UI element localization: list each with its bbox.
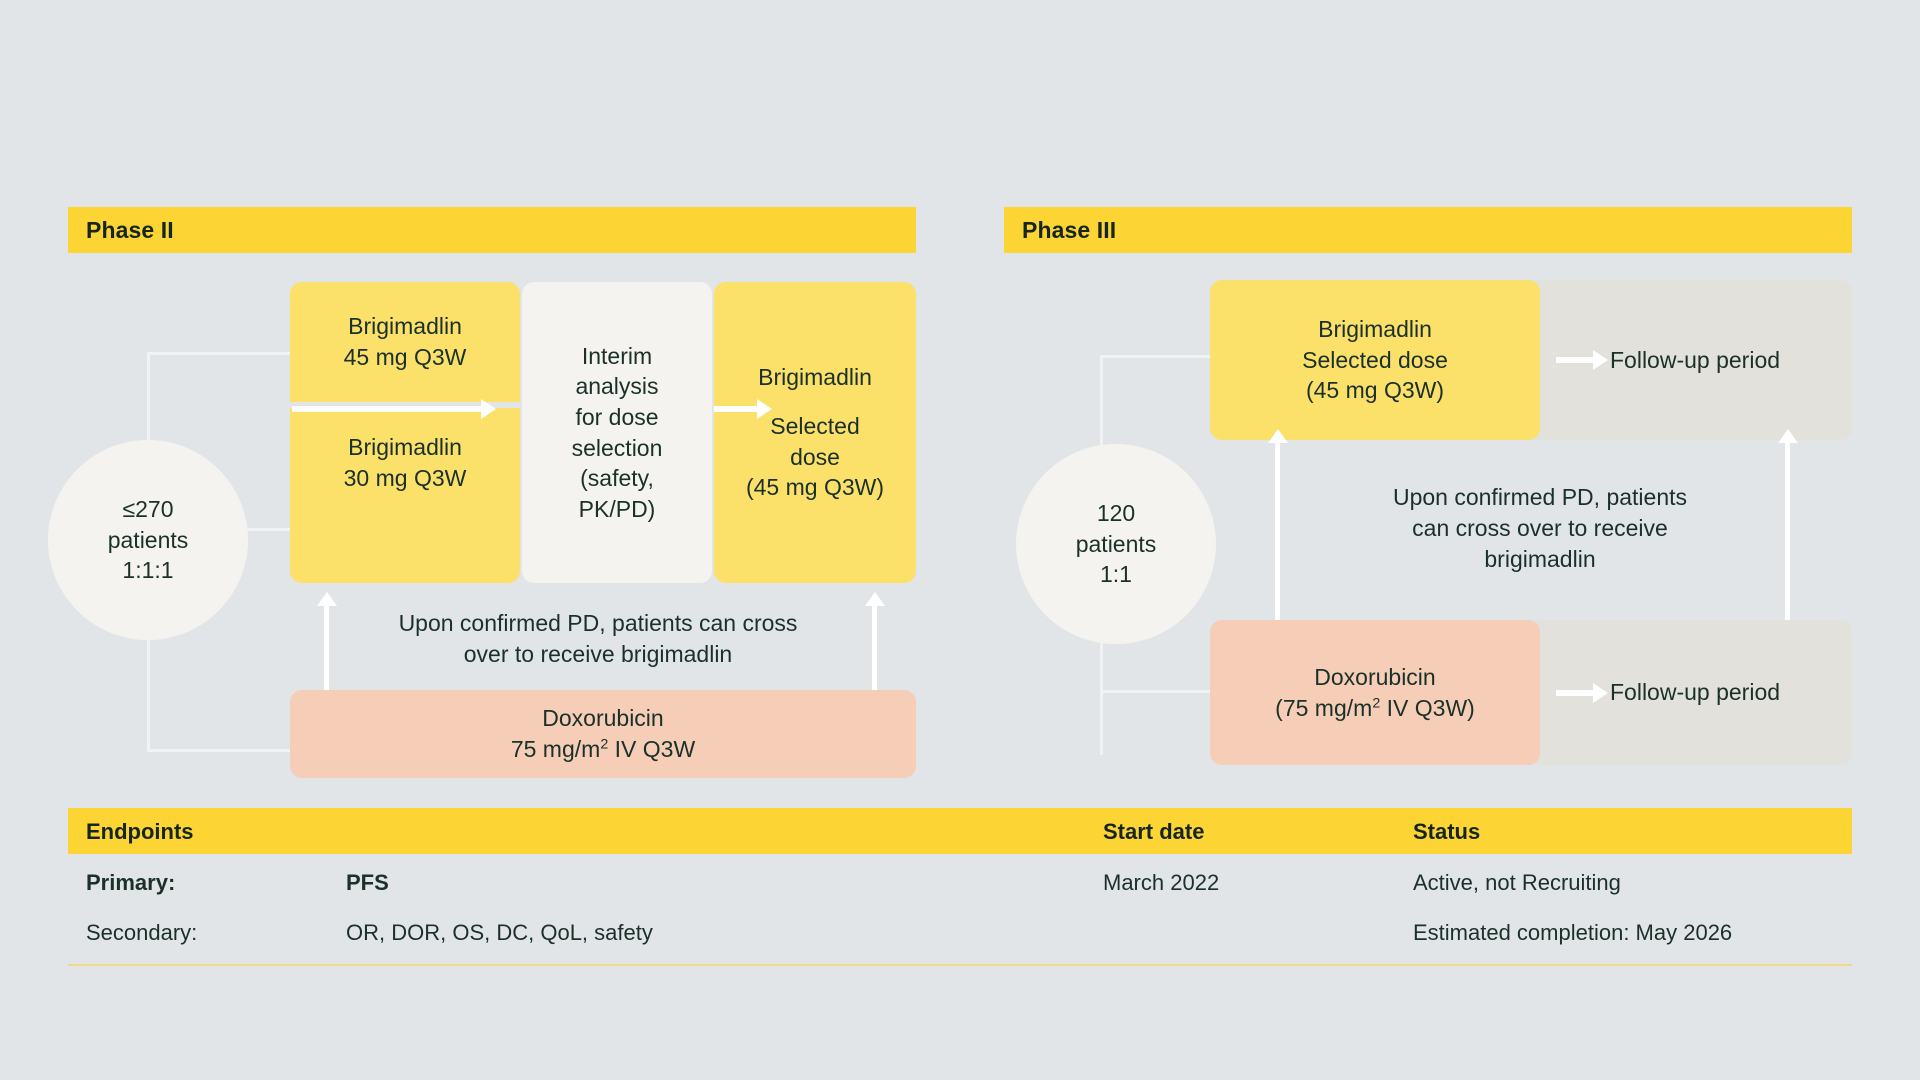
phase2-crossover-arrow-right (872, 605, 877, 690)
phase2-arrow-arms-to-interim (292, 406, 482, 412)
phase2-arm-30mg-line2: 30 mg Q3W (344, 463, 467, 494)
phase3-population-line2: patients (1076, 529, 1157, 560)
phase3-crossover-line3: brigimadlin (1330, 544, 1750, 575)
phase2-selected-line2: Selected (770, 411, 860, 442)
phase2-population-line3: 1:1:1 (122, 555, 173, 586)
phase2-crossover-caption: Upon confirmed PD, patients can cross ov… (318, 608, 878, 670)
phase2-selected-line4: (45 mg Q3W) (746, 472, 884, 503)
phase2-doxorubicin-line2: 75 mg/m2 IV Q3W (511, 734, 695, 765)
phase2-arrow-interim-to-selected (714, 406, 758, 412)
table-secondary-value: OR, DOR, OS, DC, QoL, safety (346, 920, 653, 946)
phase2-selected-line3: dose (790, 442, 840, 473)
phase2-crossover-line2: over to receive brigimadlin (318, 639, 878, 670)
phase3-followup-bottom-label: Follow-up period (1610, 677, 1780, 708)
phase2-population-circle: ≤270 patients 1:1:1 (48, 440, 248, 640)
phase3-dox-dose-value: (75 mg/m (1275, 695, 1372, 721)
phase2-arm-30mg-box: Brigimadlin 30 mg Q3W (290, 408, 520, 583)
phase3-population-line1: 120 (1097, 498, 1135, 529)
phase2-interim-line5: (safety, (580, 463, 654, 494)
phase3-doxorubicin-box: Doxorubicin (75 mg/m2 IV Q3W) (1210, 620, 1540, 765)
table-status-value: Active, not Recruiting (1413, 870, 1621, 896)
phase-3-header: Phase III (1004, 207, 1852, 253)
phase3-brigimadlin-line3: (45 mg Q3W) (1306, 375, 1444, 406)
table-col-start-date: Start date (1103, 819, 1204, 845)
phase3-doxorubicin-line2: (75 mg/m2 IV Q3W) (1275, 693, 1475, 724)
table-col-status: Status (1413, 819, 1480, 845)
summary-table-header-row: Endpoints Start date Status (68, 808, 1852, 854)
phase3-connector-top-horizontal (1100, 355, 1210, 358)
phase2-dox-dose-route: IV Q3W (608, 736, 695, 762)
phase3-population-line3: 1:1 (1100, 559, 1132, 590)
phase3-brigimadlin-line2: Selected dose (1302, 345, 1448, 376)
phase2-population-line1: ≤270 (123, 494, 174, 525)
trial-design-diagram: Phase II ≤270 patients 1:1:1 Brigimadlin… (0, 0, 1920, 1080)
phase3-arrow-doxorubicin-to-followup (1556, 690, 1594, 696)
phase3-arrow-brigimadlin-to-followup (1556, 357, 1594, 363)
phase3-crossover-line2: can cross over to receive (1330, 513, 1750, 544)
table-estimated-completion: Estimated completion: May 2026 (1413, 920, 1732, 946)
phase3-population-circle: 120 patients 1:1 (1016, 444, 1216, 644)
summary-table-body: Primary: PFS March 2022 Active, not Recr… (68, 854, 1852, 964)
summary-table: Endpoints Start date Status Primary: PFS… (68, 808, 1852, 964)
phase2-interim-line3: for dose (575, 402, 658, 433)
phase2-doxorubicin-box: Doxorubicin 75 mg/m2 IV Q3W (290, 690, 916, 778)
phase2-selected-line1: Brigimadlin (758, 362, 872, 393)
phase2-selected-dose-box: Brigimadlin Selected dose (45 mg Q3W) (714, 282, 916, 583)
table-col-endpoints: Endpoints (86, 819, 194, 845)
phase2-doxorubicin-line1: Doxorubicin (542, 703, 663, 734)
phase2-arm-45mg-line1: Brigimadlin (348, 311, 462, 342)
phase-3-header-label: Phase III (1022, 217, 1116, 244)
phase2-interim-line4: selection (572, 433, 663, 464)
phase3-dox-dose-route: IV Q3W) (1380, 695, 1475, 721)
phase2-arm-45mg-box: Brigimadlin 45 mg Q3W (290, 282, 520, 402)
phase2-connector-top-horizontal (147, 352, 295, 355)
table-bottom-rule (68, 964, 1852, 966)
phase-2-header: Phase II (68, 207, 916, 253)
phase2-interim-line6: PK/PD) (579, 494, 656, 525)
phase2-arm-30mg-line1: Brigimadlin (348, 432, 462, 463)
phase2-arm-45mg-line2: 45 mg Q3W (344, 342, 467, 373)
phase3-crossover-line1: Upon confirmed PD, patients (1330, 482, 1750, 513)
phase3-crossover-arrow-left (1275, 442, 1280, 620)
phase2-connector-bottom-horizontal (147, 749, 295, 752)
phase3-doxorubicin-line1: Doxorubicin (1314, 662, 1435, 693)
phase2-crossover-line1: Upon confirmed PD, patients can cross (318, 608, 878, 639)
phase2-dox-dose-value: 75 mg/m (511, 736, 600, 762)
phase3-brigimadlin-box: Brigimadlin Selected dose (45 mg Q3W) (1210, 280, 1540, 440)
table-primary-label: Primary: (86, 870, 175, 896)
phase-2-header-label: Phase II (86, 217, 174, 244)
phase2-population-line2: patients (108, 525, 189, 556)
table-secondary-label: Secondary: (86, 920, 197, 946)
table-start-date-value: March 2022 (1103, 870, 1219, 896)
phase3-crossover-arrow-right (1785, 442, 1790, 620)
phase3-brigimadlin-line1: Brigimadlin (1318, 314, 1432, 345)
phase3-followup-top-label: Follow-up period (1610, 345, 1780, 376)
phase3-connector-bottom-horizontal (1100, 690, 1210, 693)
phase2-crossover-arrow-left (324, 605, 329, 690)
phase2-interim-line2: analysis (575, 371, 658, 402)
phase2-interim-analysis-box: Interim analysis for dose selection (saf… (522, 282, 712, 583)
phase2-interim-line1: Interim (582, 341, 652, 372)
table-primary-value: PFS (346, 870, 389, 896)
phase3-crossover-caption: Upon confirmed PD, patients can cross ov… (1330, 482, 1750, 575)
